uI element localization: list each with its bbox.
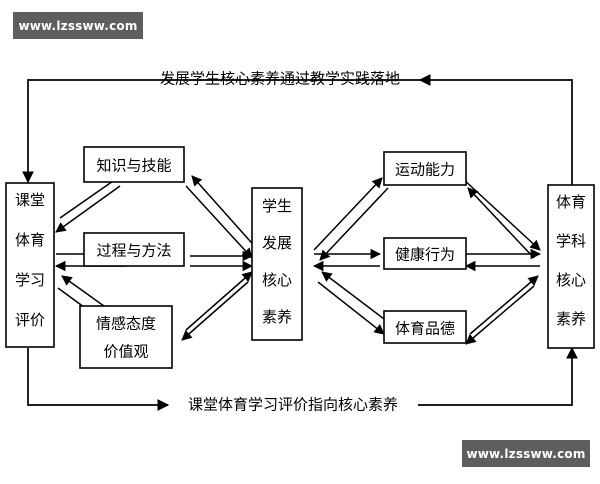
node-healthy-behavior[interactable]: 健康行为	[384, 238, 466, 269]
node-label-line-1: 价值观	[103, 343, 148, 361]
node-classroom-pe-learning-evaluation[interactable]: 课堂 体育 学习 评价	[6, 183, 54, 347]
node-line-3: 素养	[556, 310, 586, 328]
node-process-and-method[interactable]: 过程与方法	[84, 233, 184, 266]
relationship-diagram-svg: 发展学生核心素养通过教学实践落地 课堂体育学习评价指向核心素养	[0, 0, 600, 480]
node-line-0: 体育	[556, 193, 586, 211]
node-line-2: 学习	[15, 271, 45, 289]
edge-center-sportsability	[314, 178, 388, 260]
node-knowledge-and-skills[interactable]: 知识与技能	[84, 147, 184, 182]
node-label: 体育品德	[395, 320, 455, 338]
edge-center-sportsmorality	[318, 272, 388, 334]
node-label: 运动能力	[395, 161, 455, 179]
node-student-development-core-literacy[interactable]: 学生 发展 核心 素养	[252, 188, 302, 340]
top-loop-label: 发展学生核心素养通过教学实践落地	[160, 70, 400, 88]
edge-healthybehavior-right-anchor	[466, 254, 540, 266]
edge-sportsmorality-right-anchor	[466, 276, 538, 344]
node-line-2: 核心	[556, 271, 586, 289]
node-label-line-0: 情感态度	[96, 315, 156, 333]
diagram-canvas: 发展学生核心素养通过教学实践落地 课堂体育学习评价指向核心素养	[0, 0, 600, 480]
node-pe-subject-core-literacy[interactable]: 体育 学科 核心 素养	[548, 185, 594, 348]
node-line-2: 核心	[262, 271, 292, 289]
bottom-loop-label: 课堂体育学习评价指向核心素养	[188, 396, 398, 414]
node-line-1: 发展	[262, 234, 292, 252]
watermark-bottom-right: www.lzssww.com	[462, 440, 590, 467]
edge-sportsability-right-anchor	[462, 178, 540, 258]
node-sports-morality[interactable]: 体育品德	[384, 311, 466, 343]
node-label: 知识与技能	[96, 157, 171, 175]
node-line-3: 评价	[15, 311, 45, 329]
node-line-3: 素养	[262, 308, 292, 326]
watermark-top-left: www.lzssww.com	[13, 12, 143, 39]
node-label: 健康行为	[395, 246, 455, 264]
node-sports-ability[interactable]: 运动能力	[384, 152, 466, 185]
node-line-1: 学科	[556, 232, 586, 250]
edge-process-center	[190, 256, 252, 266]
edge-knowledge-center	[186, 176, 258, 258]
node-label: 过程与方法	[96, 242, 171, 260]
node-line-0: 课堂	[15, 191, 45, 209]
edge-emotion-center	[182, 272, 252, 340]
node-line-0: 学生	[262, 197, 292, 215]
node-line-1: 体育	[15, 231, 45, 249]
node-emotion-attitude-values[interactable]: 情感态度 价值观	[80, 306, 172, 368]
